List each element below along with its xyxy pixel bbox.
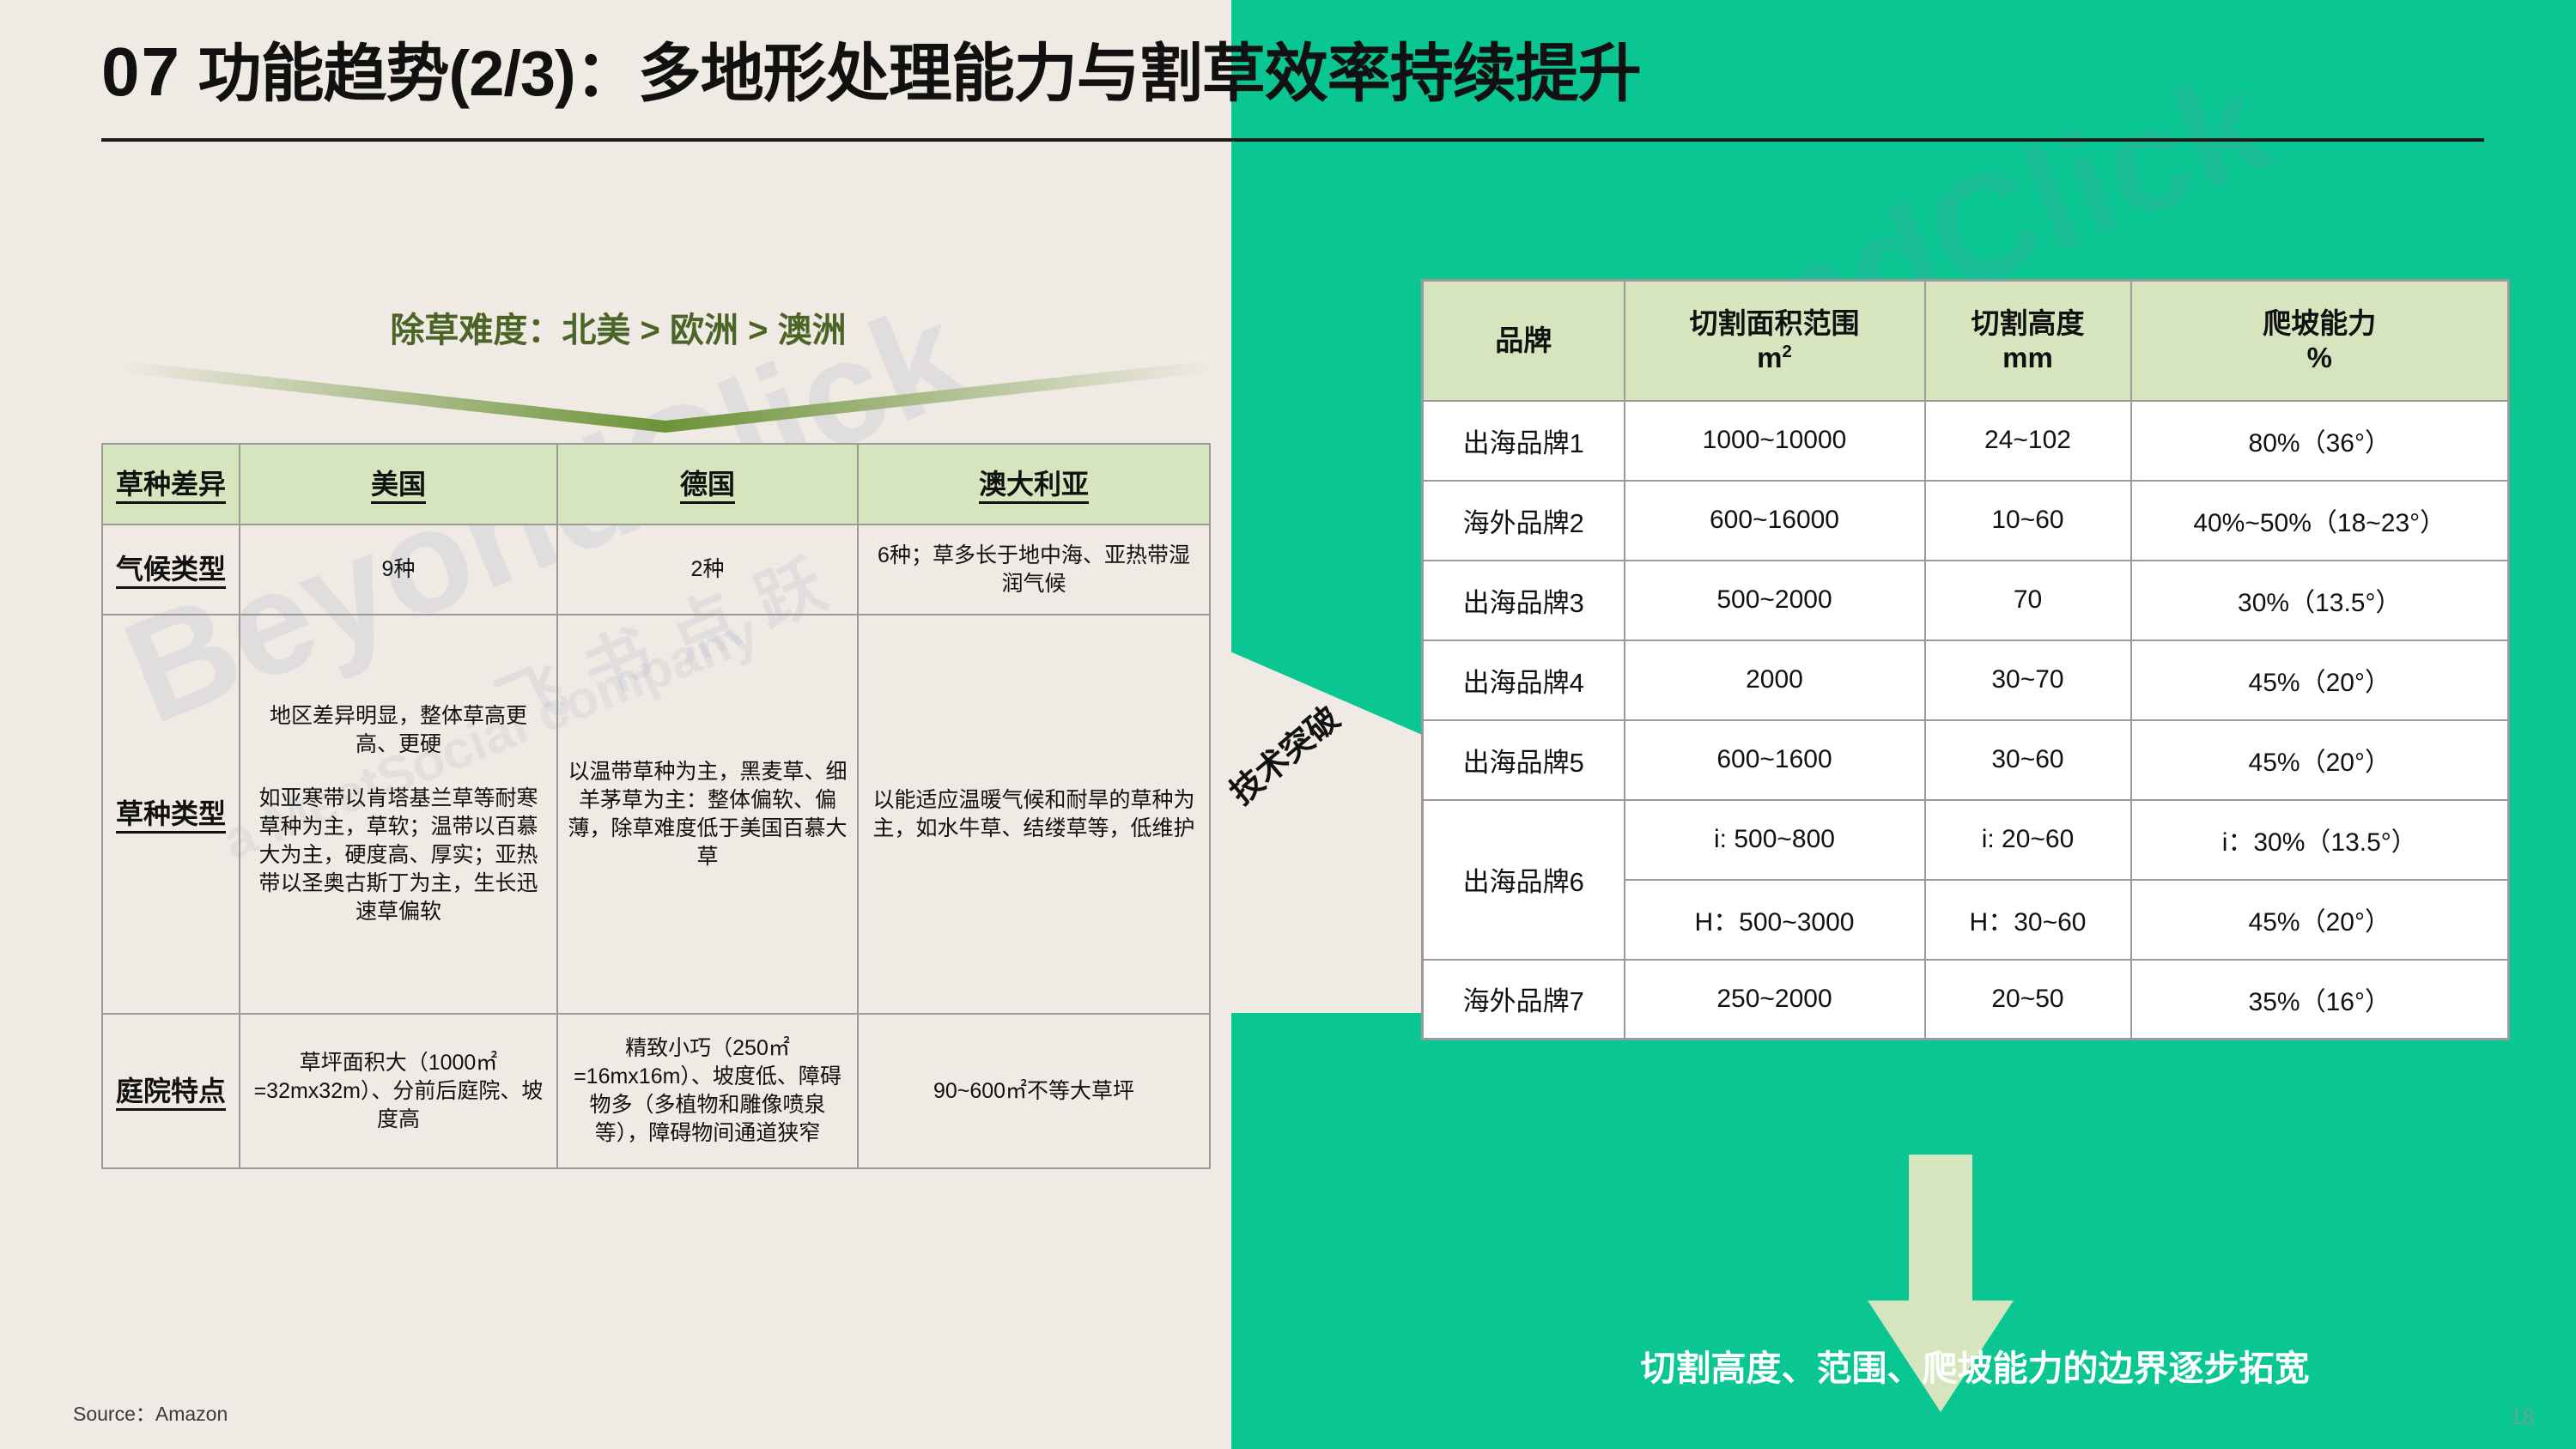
cell-climate-de: 2种 xyxy=(557,524,858,615)
cell-slope: 40%~50%（18~23°） xyxy=(2131,481,2509,561)
cell-yard-de: 精致小巧（250㎡=16mx16m）、坡度低、障碍物多（多植物和雕像喷泉等），障… xyxy=(557,1014,858,1168)
chevron-down-icon xyxy=(120,354,1211,448)
source-note: Source：Amazon xyxy=(73,1397,228,1427)
page-number: 18 xyxy=(2510,1404,2535,1430)
cell-slope: 45%（20°） xyxy=(2131,720,2509,800)
table-row: 出海品牌4 2000 30~70 45%（20°） xyxy=(1423,640,2509,720)
cell-height: 10~60 xyxy=(1925,481,2131,561)
cell-yard-us: 草坪面积大（1000㎡=32mx32m）、分前后庭院、坡度高 xyxy=(240,1014,557,1168)
col-header-category: 草种差异 xyxy=(102,444,240,524)
cell-height: i: 20~60 xyxy=(1925,800,2131,880)
cell-brand: 海外品牌7 xyxy=(1423,960,1625,1040)
cell-brand: 出海品牌5 xyxy=(1423,720,1625,800)
table-row: 海外品牌2 600~16000 10~60 40%~50%（18~23°） xyxy=(1423,481,2509,561)
table-row: 出海品牌5 600~1600 30~60 45%（20°） xyxy=(1423,720,2509,800)
cell-area: H：500~3000 xyxy=(1625,880,1925,960)
cell-brand: 出海品牌4 xyxy=(1423,640,1625,720)
left-section-heading: 除草难度：北美 > 欧洲 > 澳洲 xyxy=(189,302,1048,352)
col-header-brand: 品牌 xyxy=(1423,281,1625,401)
col-header-us: 美国 xyxy=(240,444,557,524)
row-label-climate: 气候类型 xyxy=(102,524,240,615)
cell-grass-us: 地区差异明显，整体草高更高、更硬 如亚寒带以肯塔基兰草等耐寒草种为主，草软；温带… xyxy=(240,615,557,1014)
bottom-caption: 切割高度、范围、爬坡能力的边界逐步拓宽 xyxy=(1460,1339,2490,1391)
grass-comparison-table: 草种差异 美国 德国 澳大利亚 气候类型 9种 2种 6种；草多长于地中海、亚热… xyxy=(101,443,1211,1169)
title-text: 功能趋势(2/3)：多地形处理能力与割草效率持续提升 xyxy=(198,38,1641,109)
cell-area: 600~16000 xyxy=(1625,481,1925,561)
row-label-grass-type: 草种类型 xyxy=(102,615,240,1014)
col-header-slope: 爬坡能力% xyxy=(2131,281,2509,401)
cell-slope: 80%（36°） xyxy=(2131,401,2509,481)
cell-climate-au: 6种；草多长于地中海、亚热带湿润气候 xyxy=(858,524,1210,615)
col-header-de: 德国 xyxy=(557,444,858,524)
table-row: 草种类型 地区差异明显，整体草高更高、更硬 如亚寒带以肯塔基兰草等耐寒草种为主，… xyxy=(102,615,1210,1014)
cell-height: 30~70 xyxy=(1925,640,2131,720)
cell-slope: 45%（20°） xyxy=(2131,880,2509,960)
cell-slope: i：30%（13.5°） xyxy=(2131,800,2509,880)
table-row: 海外品牌7 250~2000 20~50 35%（16°） xyxy=(1423,960,2509,1040)
slide-root: BeyondClick BeyondClick 飞书点跃 飞书点跃 a Meet… xyxy=(0,0,2576,1449)
table-row: 庭院特点 草坪面积大（1000㎡=32mx32m）、分前后庭院、坡度高 精致小巧… xyxy=(102,1014,1210,1168)
title-divider xyxy=(101,138,2484,142)
table-header-row: 草种差异 美国 德国 澳大利亚 xyxy=(102,444,1210,524)
cell-area: 2000 xyxy=(1625,640,1925,720)
cell-area: 250~2000 xyxy=(1625,960,1925,1040)
page-title: 07 功能趋势(2/3)：多地形处理能力与割草效率持续提升 xyxy=(101,33,2162,112)
col-header-cutting-area: 切割面积范围m2 xyxy=(1625,281,1925,401)
cell-height: 24~102 xyxy=(1925,401,2131,481)
col-header-cutting-height: 切割高度mm xyxy=(1925,281,2131,401)
table-header-row: 品牌 切割面积范围m2 切割高度mm 爬坡能力% xyxy=(1423,281,2509,401)
cell-area: 1000~10000 xyxy=(1625,401,1925,481)
cell-brand: 出海品牌1 xyxy=(1423,401,1625,481)
cell-grass-de: 以温带草种为主，黑麦草、细羊茅草为主：整体偏软、偏薄，除草难度低于美国百慕大草 xyxy=(557,615,858,1014)
row-label-yard: 庭院特点 xyxy=(102,1014,240,1168)
cell-area: 500~2000 xyxy=(1625,561,1925,640)
slide-number: 07 xyxy=(101,33,181,110)
cell-brand: 海外品牌2 xyxy=(1423,481,1625,561)
cell-climate-us: 9种 xyxy=(240,524,557,615)
cell-height: 70 xyxy=(1925,561,2131,640)
cell-height: 20~50 xyxy=(1925,960,2131,1040)
col-header-au: 澳大利亚 xyxy=(858,444,1210,524)
cell-height: H：30~60 xyxy=(1925,880,2131,960)
table-row: 气候类型 9种 2种 6种；草多长于地中海、亚热带湿润气候 xyxy=(102,524,1210,615)
cell-slope: 30%（13.5°） xyxy=(2131,561,2509,640)
table-row: 出海品牌3 500~2000 70 30%（13.5°） xyxy=(1423,561,2509,640)
mower-spec-table: 品牌 切割面积范围m2 切割高度mm 爬坡能力% 出海品牌1 1000~1000… xyxy=(1421,279,2510,1040)
cell-grass-au: 以能适应温暖气候和耐旱的草种为主，如水牛草、结缕草等，低维护 xyxy=(858,615,1210,1014)
cell-yard-au: 90~600㎡不等大草坪 xyxy=(858,1014,1210,1168)
cell-brand: 出海品牌3 xyxy=(1423,561,1625,640)
cell-area: i: 500~800 xyxy=(1625,800,1925,880)
cell-slope: 35%（16°） xyxy=(2131,960,2509,1040)
cell-area: 600~1600 xyxy=(1625,720,1925,800)
cell-height: 30~60 xyxy=(1925,720,2131,800)
table-row: 出海品牌6 i: 500~800 i: 20~60 i：30%（13.5°） xyxy=(1423,800,2509,880)
table-row: 出海品牌1 1000~10000 24~102 80%（36°） xyxy=(1423,401,2509,481)
cell-brand: 出海品牌6 xyxy=(1423,800,1625,960)
cell-slope: 45%（20°） xyxy=(2131,640,2509,720)
